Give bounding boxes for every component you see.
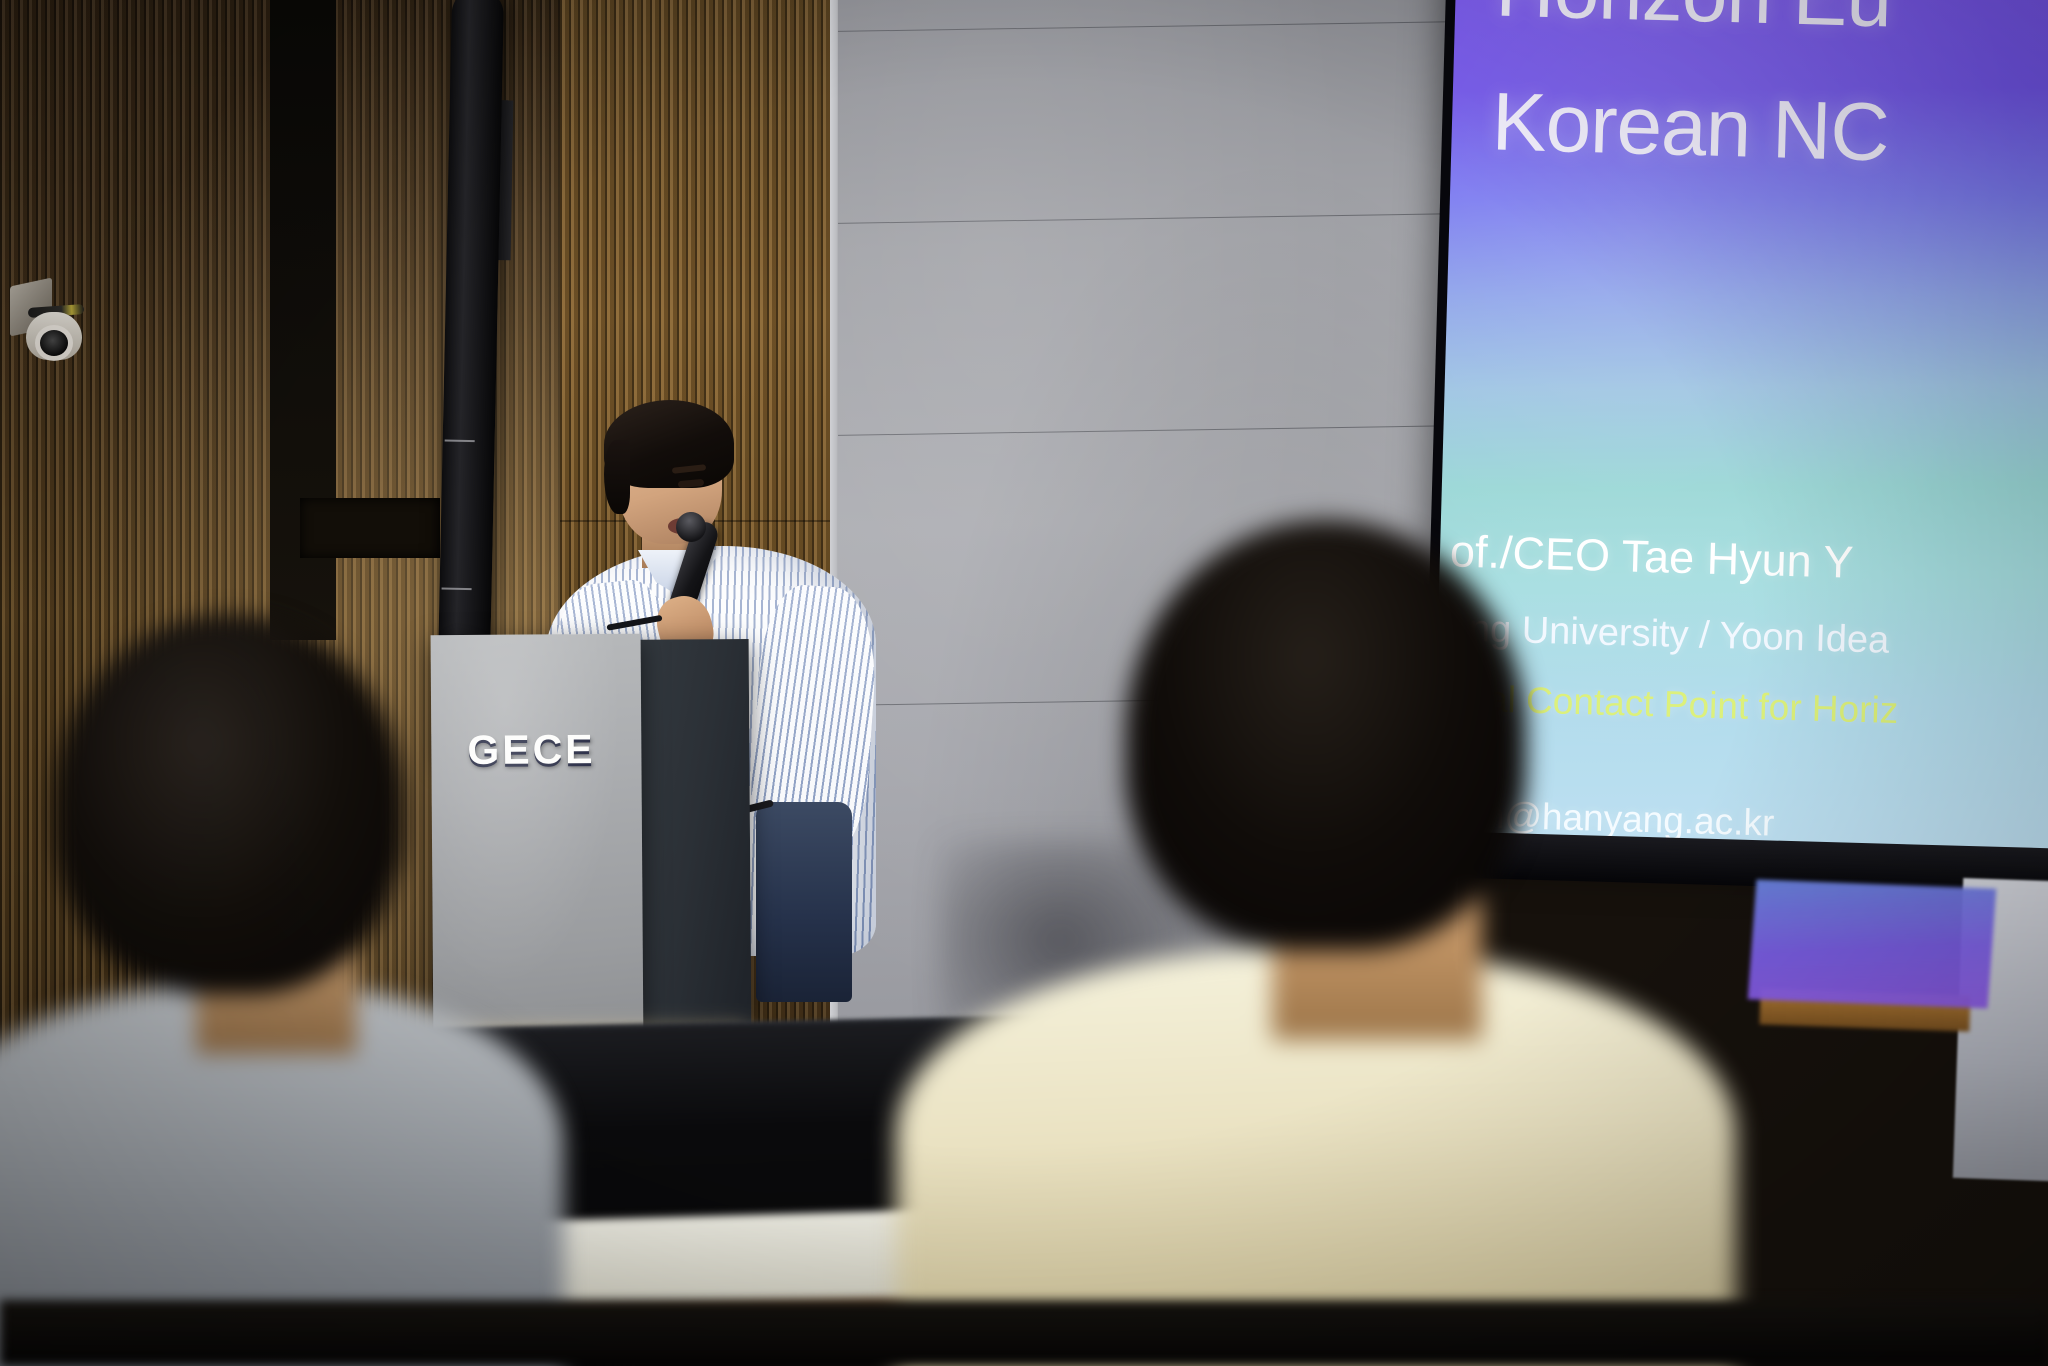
speaker-seam bbox=[445, 439, 475, 442]
slide-title-line-1: Horizon Eu bbox=[1495, 0, 1893, 44]
camera-lens-icon bbox=[40, 330, 68, 356]
lectern: GECE bbox=[431, 633, 782, 1047]
lectern-logo-text: GECE bbox=[467, 726, 596, 774]
presenter-hair-side bbox=[604, 440, 630, 514]
concrete-seam bbox=[838, 213, 1458, 224]
slide-title-line-2: Korean NC bbox=[1491, 78, 1890, 178]
audience-right-head bbox=[1126, 520, 1526, 950]
lectern-side-panel bbox=[639, 639, 752, 1032]
audience-member-right bbox=[1016, 520, 1636, 1366]
secondary-monitor bbox=[1748, 880, 1997, 1009]
concrete-seam bbox=[838, 425, 1458, 436]
speaker-seam bbox=[442, 587, 472, 590]
audience-left-head bbox=[54, 614, 404, 994]
monitor-scanlines bbox=[1748, 880, 1997, 1009]
wall-av-panel bbox=[300, 498, 440, 558]
audience-member-left bbox=[14, 614, 474, 1366]
presentation-photo-scene: GECE Horizon Eu Korean NC of./CEO Tae Hy… bbox=[0, 0, 2048, 1366]
foreground-floor bbox=[0, 1300, 2048, 1366]
concrete-seam bbox=[838, 21, 1458, 32]
